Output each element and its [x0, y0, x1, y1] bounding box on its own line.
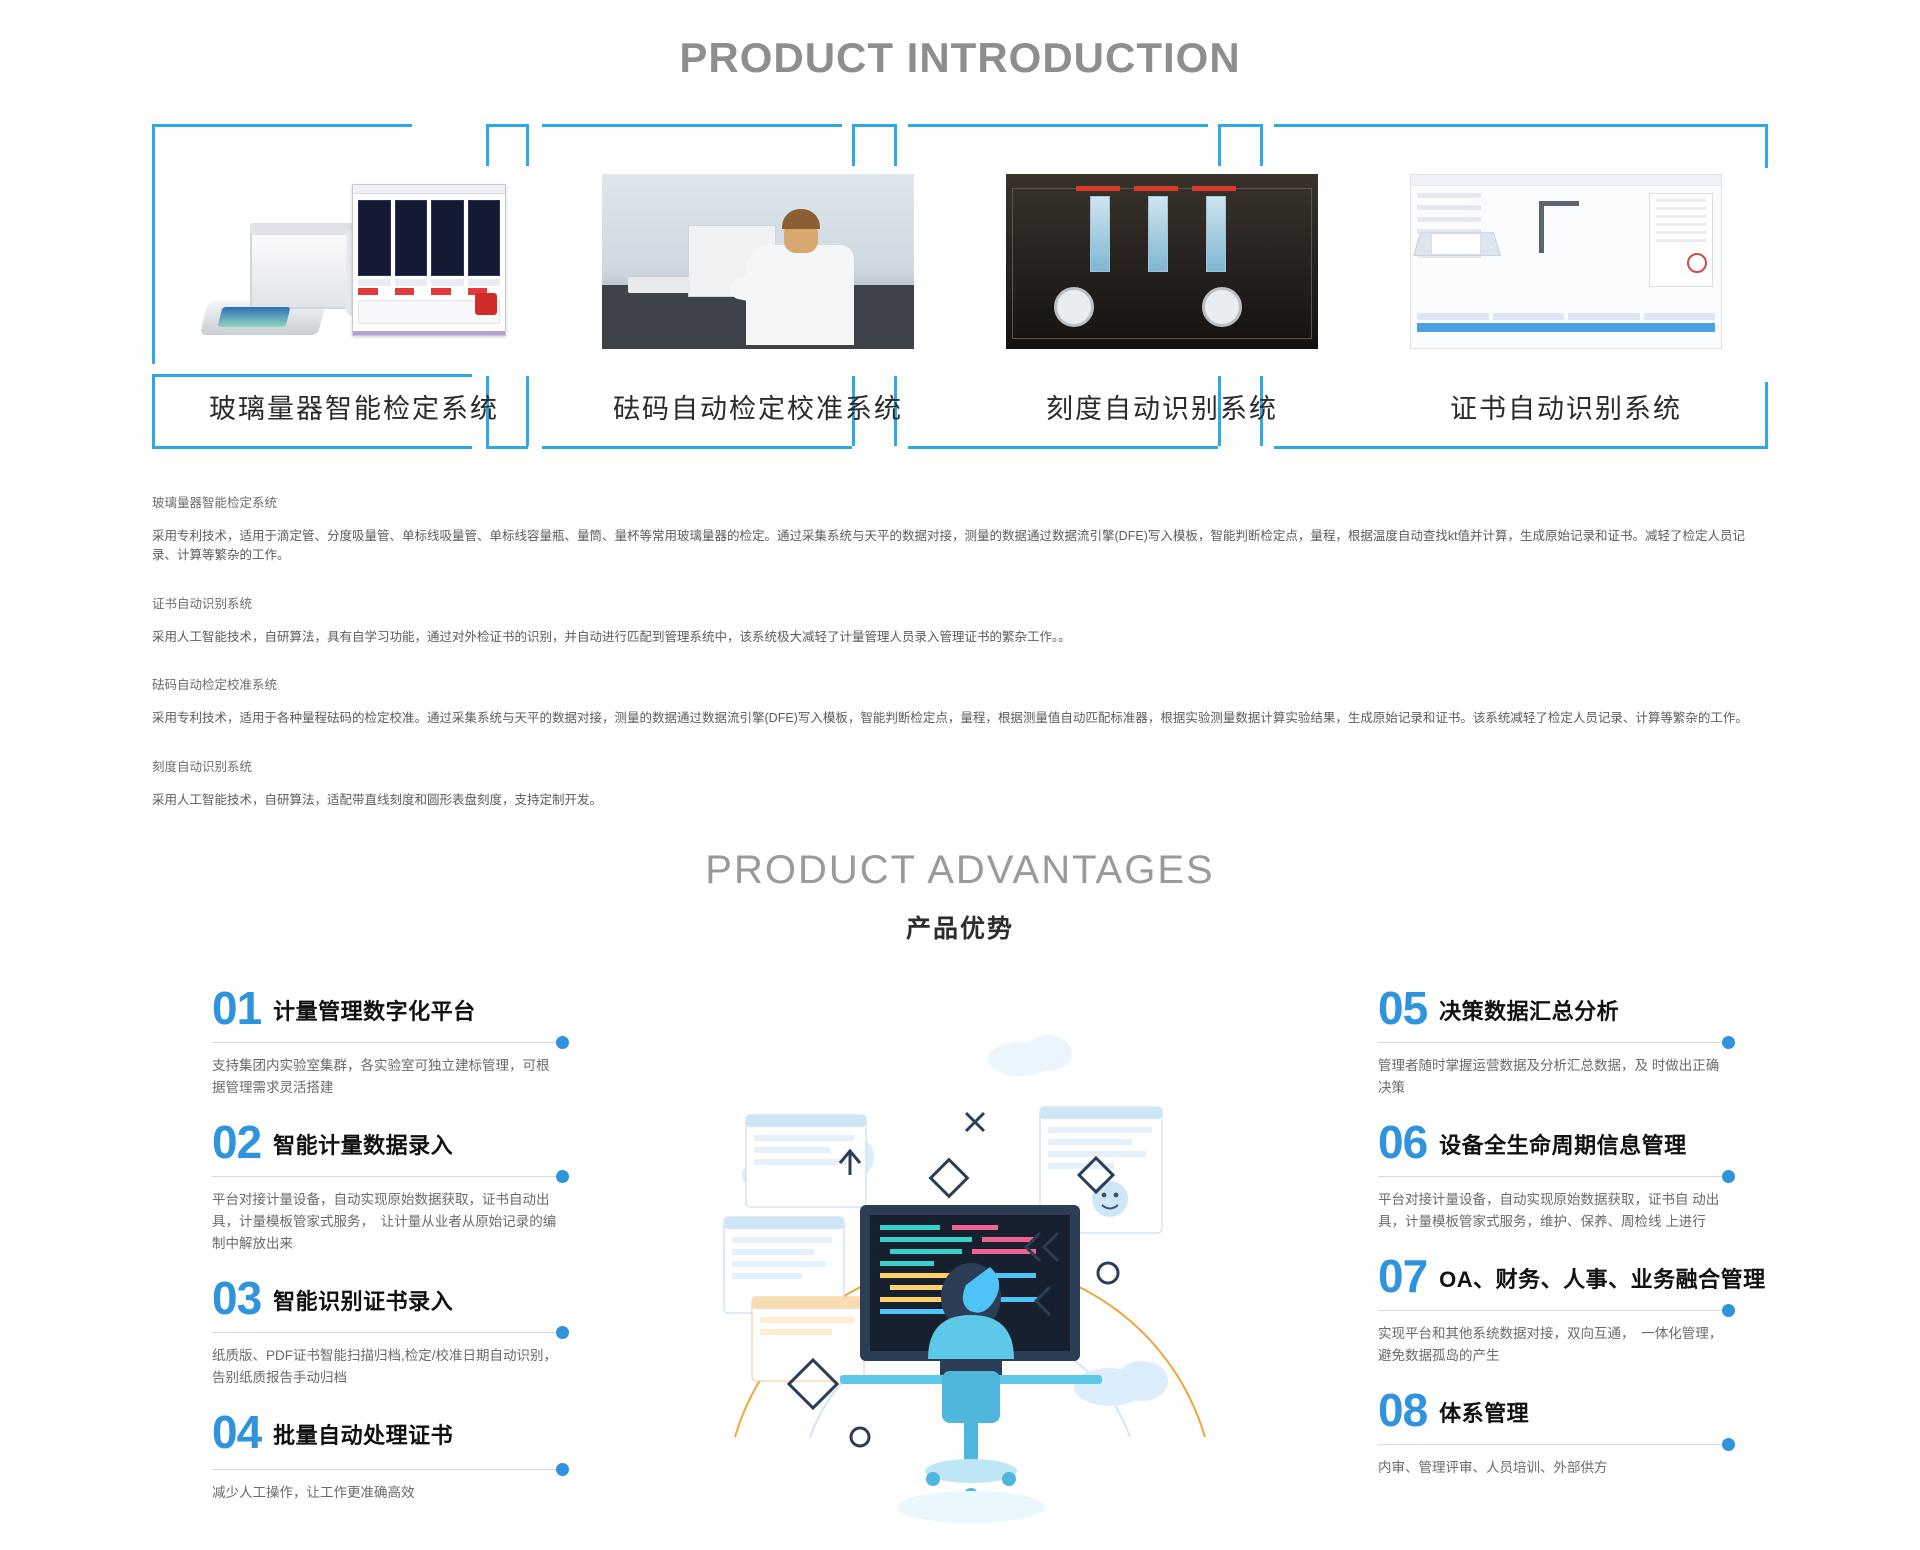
advantage-number: 08	[1378, 1389, 1427, 1431]
product-card-label: 砝码自动检定校准系统	[613, 387, 903, 426]
description-text: 采用专利技术，适用于滴定管、分度吸量管、单标线吸量管、单标线容量瓶、量筒、量杯等…	[152, 527, 1768, 565]
advantage-title: 智能计量数据录入	[273, 1128, 453, 1163]
dot-marker-icon	[1722, 1170, 1735, 1183]
advantage-description: 纸质版、PDF证书智能扫描归档,检定/校准日期自动识别，告别纸质报告手动归档	[212, 1345, 562, 1389]
description-text: 采用人工智能技术，自研算法，适配带直线刻度和圆形表盘刻度，支持定制开发。	[152, 791, 1768, 810]
divider-rule	[1378, 1042, 1728, 1043]
advantage-title: 决策数据汇总分析	[1439, 994, 1619, 1029]
workspace-illustration	[690, 967, 1250, 1527]
product-thumb-certificate-scanner	[1410, 174, 1722, 349]
advantage-title: 设备全生命周期信息管理	[1439, 1128, 1687, 1163]
advantage-number: 05	[1378, 987, 1427, 1029]
advantage-number: 07	[1378, 1255, 1427, 1297]
advantage-description: 支持集团内实验室集群，各实验室可独立建标管理，可根据管理需求灵活搭建	[212, 1055, 562, 1099]
advantage-item[interactable]: 01 计量管理数字化平台 支持集团内实验室集群，各实验室可独立建标管理，可根据管…	[212, 987, 562, 1099]
divider-rule	[212, 1469, 562, 1470]
advantage-description: 内审、管理评审、人员培训、外部供方	[1378, 1457, 1728, 1479]
advantage-item[interactable]: 07 OA、财务、人事、业务融合管理 实现平台和其他系统数据对接，双向互通， 一…	[1378, 1255, 1728, 1367]
page-title: PRODUCT INTRODUCTION	[0, 0, 1920, 82]
advantage-item[interactable]: 03 智能识别证书录入 纸质版、PDF证书智能扫描归档,检定/校准日期自动识别，…	[212, 1277, 562, 1389]
product-card-label: 刻度自动识别系统	[1046, 387, 1278, 426]
product-descriptions: 玻璃量器智能检定系统 采用专利技术，适用于滴定管、分度吸量管、单标线吸量管、单标…	[152, 492, 1768, 810]
dot-marker-icon	[556, 1036, 569, 1049]
description-heading: 玻璃量器智能检定系统	[152, 492, 1768, 511]
product-card-label: 玻璃量器智能检定系统	[209, 387, 499, 426]
divider-rule	[212, 1176, 562, 1177]
product-card-3[interactable]: 刻度自动识别系统	[960, 124, 1364, 454]
product-thumb-apparatus	[1006, 174, 1318, 349]
description-heading: 证书自动识别系统	[152, 593, 1768, 612]
dot-marker-icon	[556, 1170, 569, 1183]
advantages-column-right: 05 决策数据汇总分析 管理者随时掌握运营数据及分析汇总数据，及 时做出正确决策…	[1378, 987, 1728, 1501]
advantage-description: 平台对接计量设备，自动实现原始数据获取，证书自动出具，计量模板管家式服务， 让计…	[212, 1189, 562, 1255]
description-text: 采用人工智能技术，自研算法，具有自学习功能，通过对外检证书的识别，并自动进行匹配…	[152, 628, 1768, 647]
advantages-title: PRODUCT ADVANTAGES	[0, 848, 1920, 893]
advantage-item[interactable]: 06 设备全生命周期信息管理 平台对接计量设备，自动实现原始数据获取，证书自 动…	[1378, 1121, 1728, 1233]
divider-rule	[1378, 1310, 1728, 1311]
dot-marker-icon	[556, 1326, 569, 1339]
advantage-description: 实现平台和其他系统数据对接，双向互通， 一体化管理，避免数据孤岛的产生	[1378, 1323, 1728, 1367]
description-heading: 砝码自动检定校准系统	[152, 674, 1768, 693]
dot-marker-icon	[1722, 1036, 1735, 1049]
product-card-1[interactable]: 玻璃量器智能检定系统	[152, 124, 556, 454]
divider-rule	[1378, 1444, 1728, 1445]
advantage-number: 02	[212, 1121, 261, 1163]
product-thumb-glassware	[198, 174, 510, 349]
advantage-title: 体系管理	[1439, 1396, 1529, 1431]
advantage-title: 智能识别证书录入	[273, 1284, 453, 1319]
advantage-number: 04	[212, 1411, 261, 1453]
product-card-row: 玻璃量器智能检定系统 砝码自动检定校准系统 刻度自动识别系统	[152, 124, 1768, 454]
advantages-subtitle: 产品优势	[0, 909, 1920, 945]
advantage-title: 批量自动处理证书	[273, 1418, 453, 1453]
advantage-title: 计量管理数字化平台	[273, 994, 476, 1029]
advantage-item[interactable]: 04 批量自动处理证书 减少人工操作，让工作更准确高效	[212, 1411, 562, 1504]
advantage-description: 管理者随时掌握运营数据及分析汇总数据，及 时做出正确决策	[1378, 1055, 1728, 1099]
description-heading: 刻度自动识别系统	[152, 756, 1768, 775]
divider-rule	[212, 1332, 562, 1333]
product-card-2[interactable]: 砝码自动检定校准系统	[556, 124, 960, 454]
advantage-number: 01	[212, 987, 261, 1029]
product-card-label: 证书自动识别系统	[1450, 387, 1682, 426]
divider-rule	[212, 1042, 562, 1043]
advantage-description: 减少人工操作，让工作更准确高效	[212, 1482, 562, 1504]
advantage-item[interactable]: 02 智能计量数据录入 平台对接计量设备，自动实现原始数据获取，证书自动出具，计…	[212, 1121, 562, 1255]
advantage-item[interactable]: 05 决策数据汇总分析 管理者随时掌握运营数据及分析汇总数据，及 时做出正确决策	[1378, 987, 1728, 1099]
divider-rule	[1378, 1176, 1728, 1177]
description-text: 采用专利技术，适用于各种量程砝码的检定校准。通过采集系统与天平的数据对接，测量的…	[152, 709, 1768, 728]
advantage-description: 平台对接计量设备，自动实现原始数据获取，证书自 动出具，计量模板管家式服务，维护…	[1378, 1189, 1728, 1233]
advantage-item[interactable]: 08 体系管理 内审、管理评审、人员培训、外部供方	[1378, 1389, 1728, 1479]
dot-marker-icon	[556, 1463, 569, 1476]
advantage-title: OA、财务、人事、业务融合管理	[1439, 1262, 1766, 1297]
product-card-4[interactable]: 证书自动识别系统	[1364, 124, 1768, 454]
dot-marker-icon	[1722, 1438, 1735, 1451]
advantage-number: 03	[212, 1277, 261, 1319]
advantage-number: 06	[1378, 1121, 1427, 1163]
advantages-area: 01 计量管理数字化平台 支持集团内实验室集群，各实验室可独立建标管理，可根据管…	[0, 987, 1920, 1487]
product-thumb-technician	[602, 174, 914, 349]
advantages-column-left: 01 计量管理数字化平台 支持集团内实验室集群，各实验室可独立建标管理，可根据管…	[212, 987, 562, 1526]
dot-marker-icon	[1722, 1304, 1735, 1317]
